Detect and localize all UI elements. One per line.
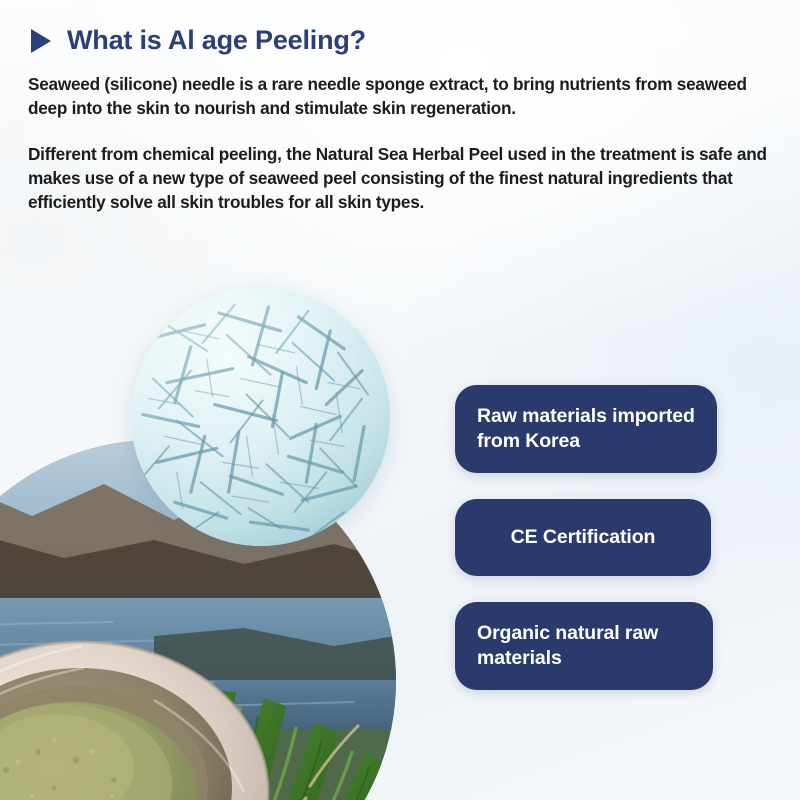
header-text-block: What is Al age Peeling? Seaweed (silicon… — [0, 0, 800, 215]
badge-organic-natural-raw-materials[interactable]: Organic natural raw materials — [455, 602, 713, 690]
feature-badge-list: Raw materials imported from Korea CE Cer… — [455, 385, 717, 690]
triangle-right-icon — [31, 29, 51, 53]
badge-ce-certification[interactable]: CE Certification — [455, 499, 711, 576]
page-title: What is Al age Peeling? — [67, 26, 366, 56]
body-paragraph-1: Seaweed (silicone) needle is a rare need… — [28, 72, 770, 121]
seaweed-needle-disc-photo — [131, 287, 390, 546]
title-row: What is Al age Peeling? — [28, 26, 770, 56]
badge-raw-materials-korea[interactable]: Raw materials imported from Korea — [455, 385, 717, 473]
body-paragraph-2: Different from chemical peeling, the Nat… — [28, 142, 770, 215]
infographic-page: What is Al age Peeling? Seaweed (silicon… — [0, 0, 800, 800]
needle-disc-artwork — [131, 287, 390, 546]
